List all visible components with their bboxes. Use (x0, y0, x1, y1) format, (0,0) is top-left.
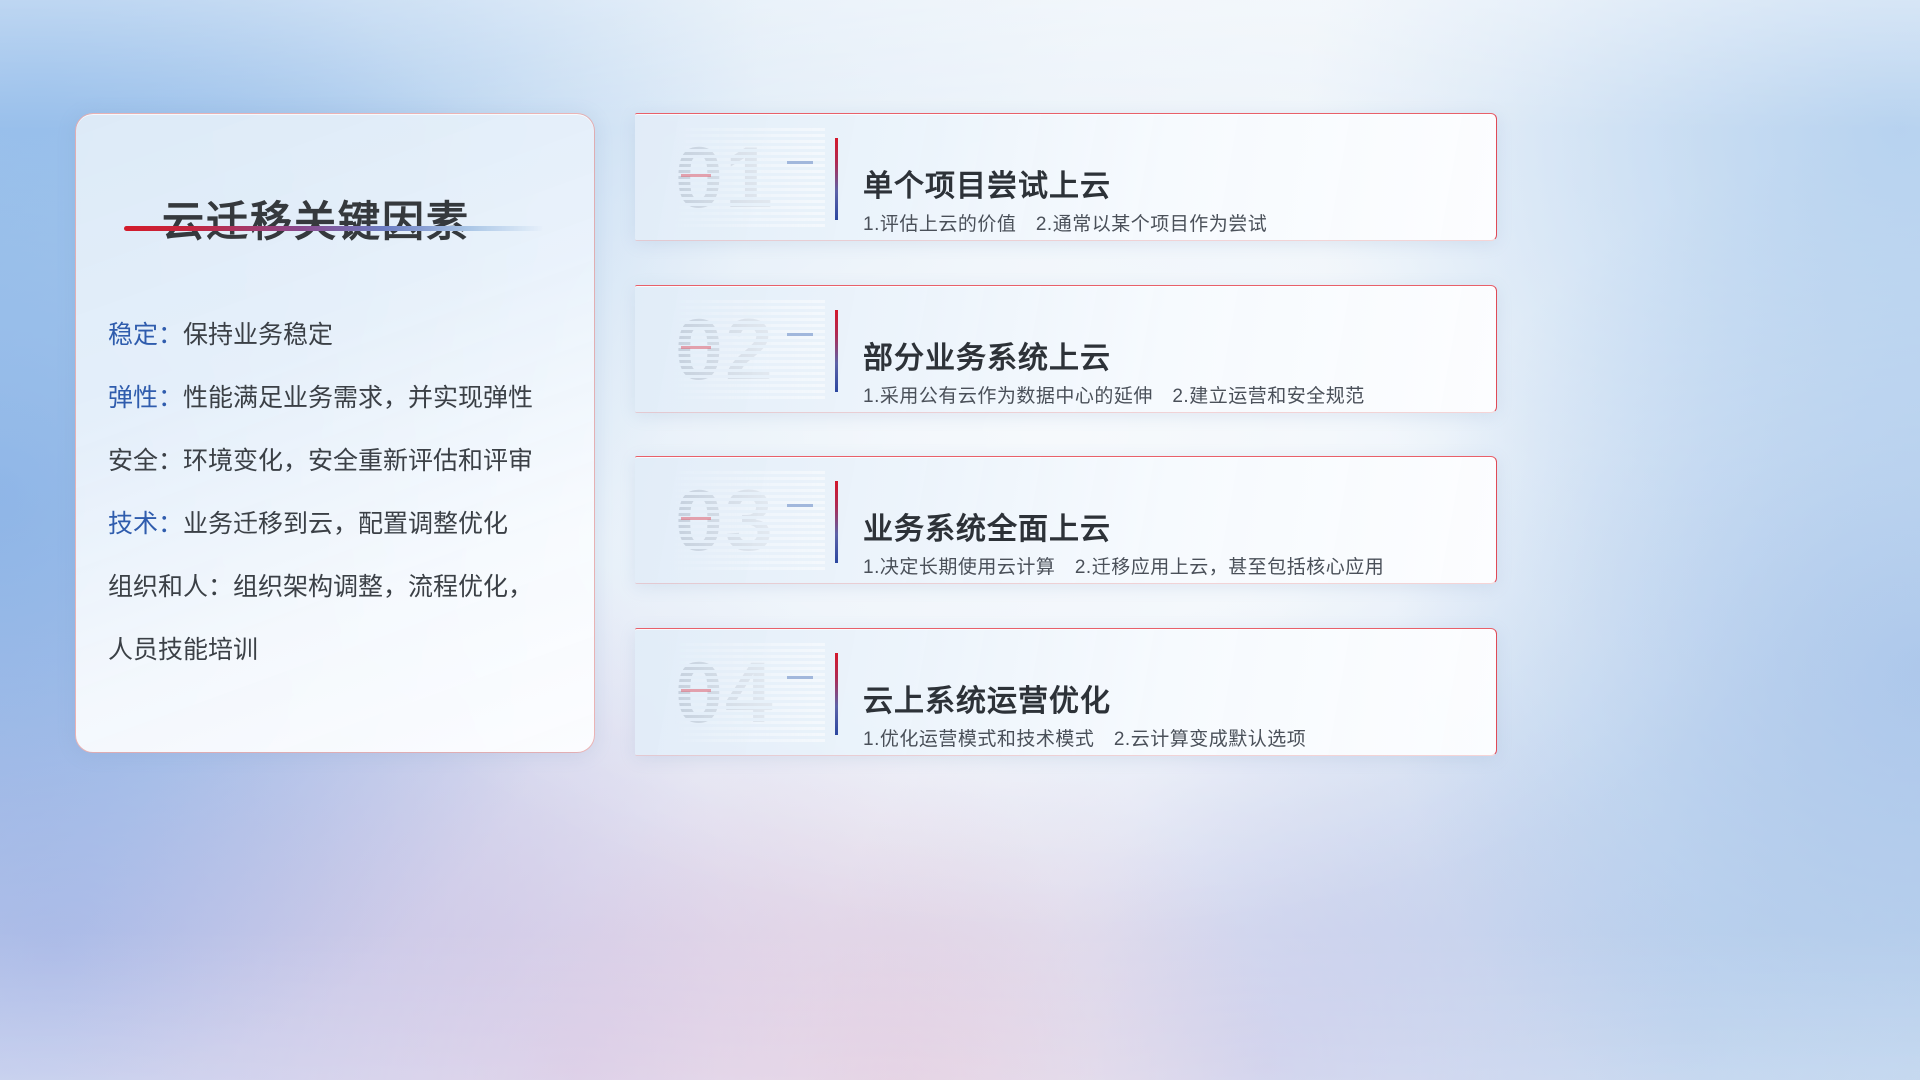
card-description: 1.决定长期使用云计算 2.迁移应用上云，甚至包括核心应用 (863, 552, 1384, 579)
stage-card[interactable]: 03 业务系统全面上云 1.决定长期使用云计算 2.迁移应用上云，甚至包括核心应… (635, 456, 1497, 584)
card-title: 部分业务系统上云 (863, 333, 1111, 377)
stage-card[interactable]: 04 云上系统运营优化 1.优化运营模式和技术模式 2.云计算变成默认选项 (635, 628, 1497, 756)
list-item-text: 保持业务稳定 (183, 321, 333, 349)
card-divider (835, 653, 838, 735)
list-item-key: 稳定： (108, 321, 183, 349)
stage-number-watermark: 01 (675, 128, 825, 228)
card-description: 1.优化运营模式和技术模式 2.云计算变成默认选项 (863, 724, 1306, 751)
stage-card[interactable]: 02 部分业务系统上云 1.采用公有云作为数据中心的延伸 2.建立运营和安全规范 (635, 285, 1497, 413)
list-item-key: 安全： (108, 447, 183, 475)
card-description: 1.采用公有云作为数据中心的延伸 2.建立运营和安全规范 (863, 381, 1365, 408)
panel-title: 云迁移关键因素 (162, 188, 470, 249)
list-item-key: 组织和人： (108, 573, 233, 601)
watermark-accent-blue (787, 333, 813, 336)
list-item-text: 性能满足业务需求，并实现弹性 (183, 384, 533, 412)
watermark-accent-red (681, 689, 711, 692)
list-item-text: 组织架构调整，流程优化， (233, 573, 533, 601)
list-item: 人员技能培训 (108, 619, 574, 682)
card-title: 云上系统运营优化 (863, 676, 1111, 720)
list-item-key: 技术： (108, 510, 183, 538)
list-item: 弹性：性能满足业务需求，并实现弹性 (108, 367, 574, 430)
watermark-accent-red (681, 174, 711, 177)
card-divider (835, 310, 838, 392)
card-divider (835, 481, 838, 563)
stage-number-watermark: 03 (675, 471, 825, 571)
slide-stage: 云迁移关键因素 稳定：保持业务稳定 弹性：性能满足业务需求，并实现弹性 安全：环… (0, 0, 1920, 1080)
stage-number-watermark: 02 (675, 300, 825, 400)
card-title: 业务系统全面上云 (863, 504, 1111, 548)
stage-card[interactable]: 01 单个项目尝试上云 1.评估上云的价值 2.通常以某个项目作为尝试 (635, 113, 1497, 241)
key-factors-list: 稳定：保持业务稳定 弹性：性能满足业务需求，并实现弹性 安全：环境变化，安全重新… (108, 304, 574, 682)
list-item-text: 人员技能培训 (108, 636, 258, 664)
title-underline-rule (124, 226, 544, 231)
list-item: 技术：业务迁移到云，配置调整优化 (108, 493, 574, 556)
watermark-accent-blue (787, 676, 813, 679)
stage-number-watermark: 04 (675, 643, 825, 743)
list-item-key: 弹性： (108, 384, 183, 412)
list-item: 稳定：保持业务稳定 (108, 304, 574, 367)
key-factors-panel: 云迁移关键因素 稳定：保持业务稳定 弹性：性能满足业务需求，并实现弹性 安全：环… (75, 113, 595, 753)
watermark-accent-blue (787, 161, 813, 164)
list-item: 安全：环境变化，安全重新评估和评审 (108, 430, 574, 493)
watermark-accent-red (681, 517, 711, 520)
watermark-accent-blue (787, 504, 813, 507)
list-item-text: 业务迁移到云，配置调整优化 (183, 510, 508, 538)
list-item-text: 环境变化，安全重新评估和评审 (183, 447, 533, 475)
list-item: 组织和人：组织架构调整，流程优化， (108, 556, 574, 619)
card-divider (835, 138, 838, 220)
watermark-accent-red (681, 346, 711, 349)
card-description: 1.评估上云的价值 2.通常以某个项目作为尝试 (863, 209, 1267, 236)
card-title: 单个项目尝试上云 (863, 161, 1111, 205)
